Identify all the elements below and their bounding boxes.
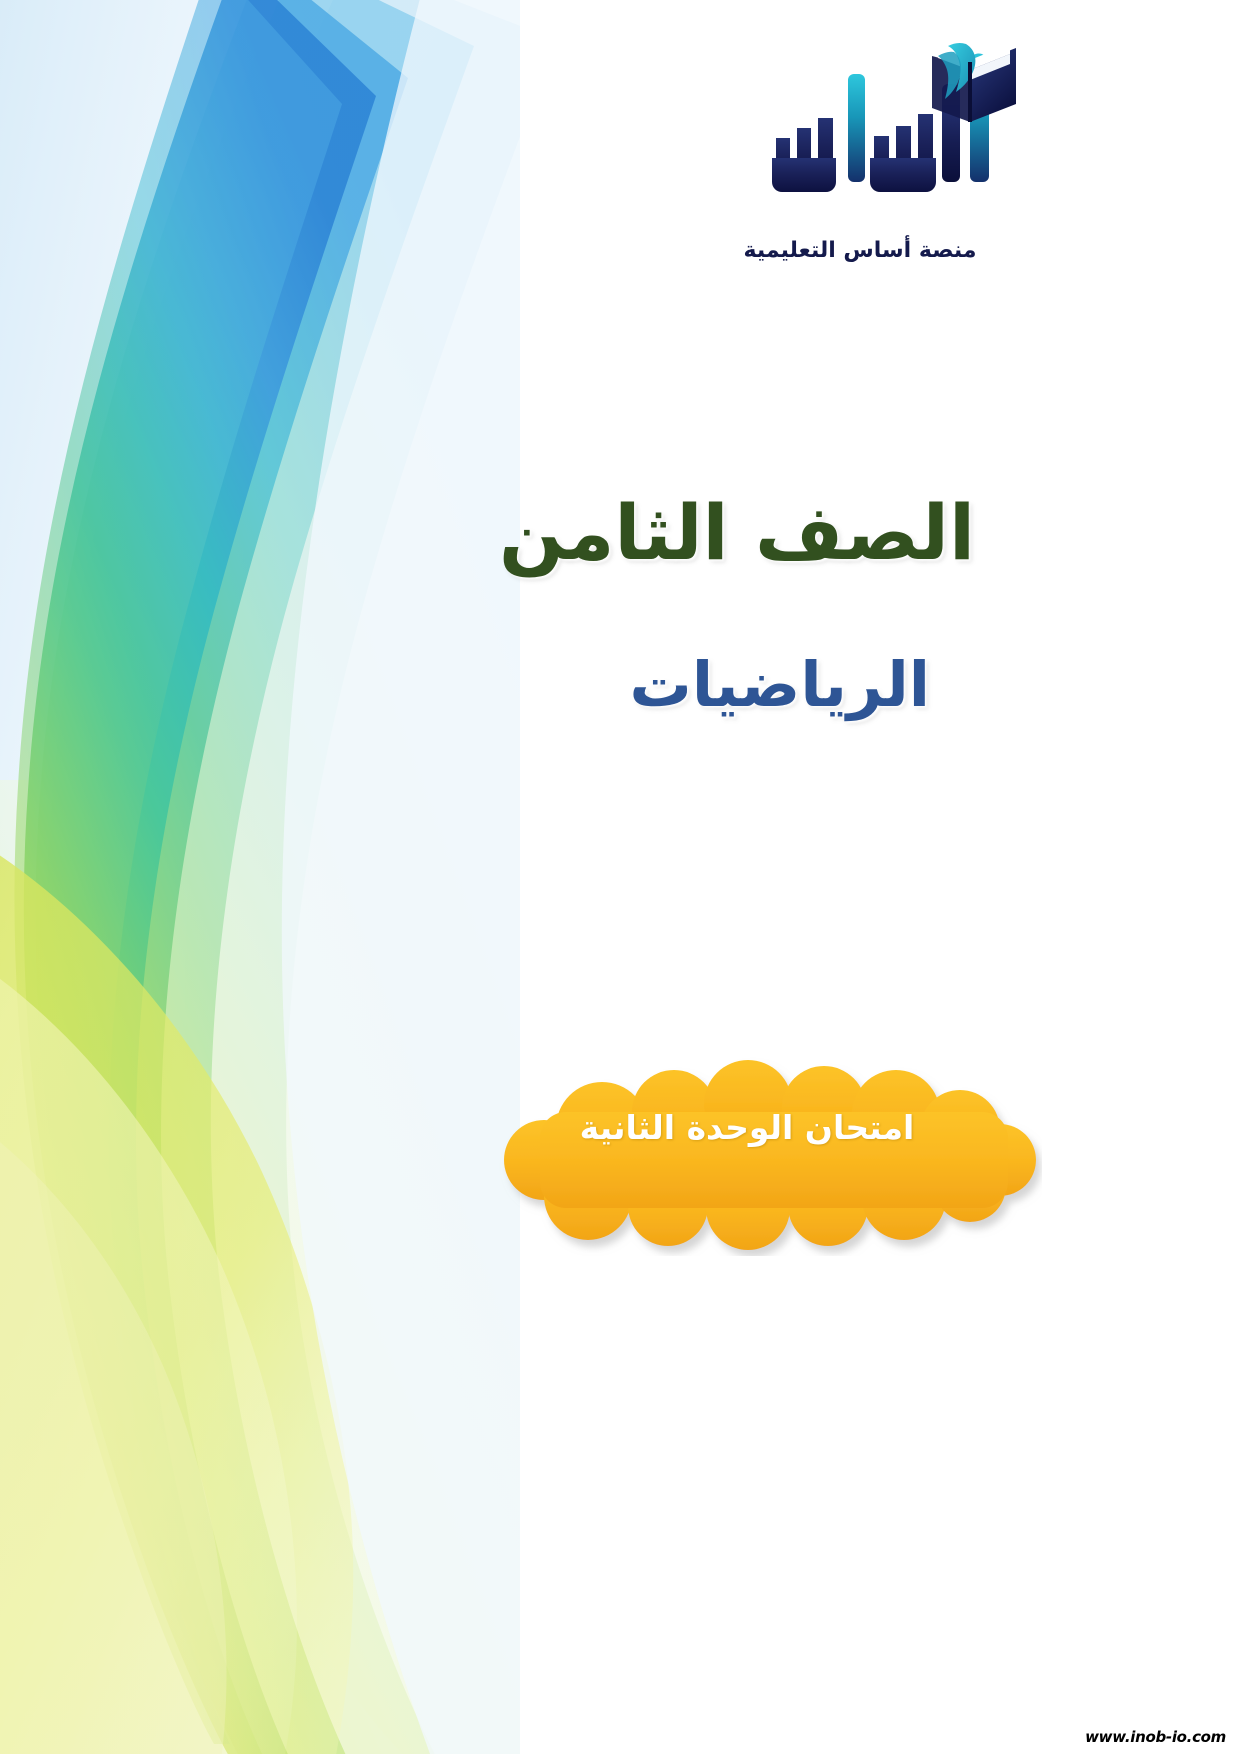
brand-logo: منصة أساس التعليمية: [688, 40, 1018, 240]
cloud-badge-label: امتحان الوحدة الثانية: [452, 1108, 1042, 1147]
grade-title: الصف الثامن: [499, 492, 975, 574]
exam-cover-page: منصة أساس التعليمية الصف الثامن الرياضيا…: [0, 0, 1240, 1754]
footer-website-url[interactable]: www.inob-io.com: [1085, 1728, 1226, 1746]
logo-subtitle: منصة أساس التعليمية: [710, 238, 1010, 263]
open-book-icon: [932, 43, 1016, 122]
subject-title: الرياضيات: [630, 652, 930, 719]
logo-wordmark-and-book: [688, 40, 1018, 200]
cloud-badge-shape: [452, 1056, 1042, 1256]
flowing-ribbon-swoosh-artwork: [0, 0, 520, 1754]
